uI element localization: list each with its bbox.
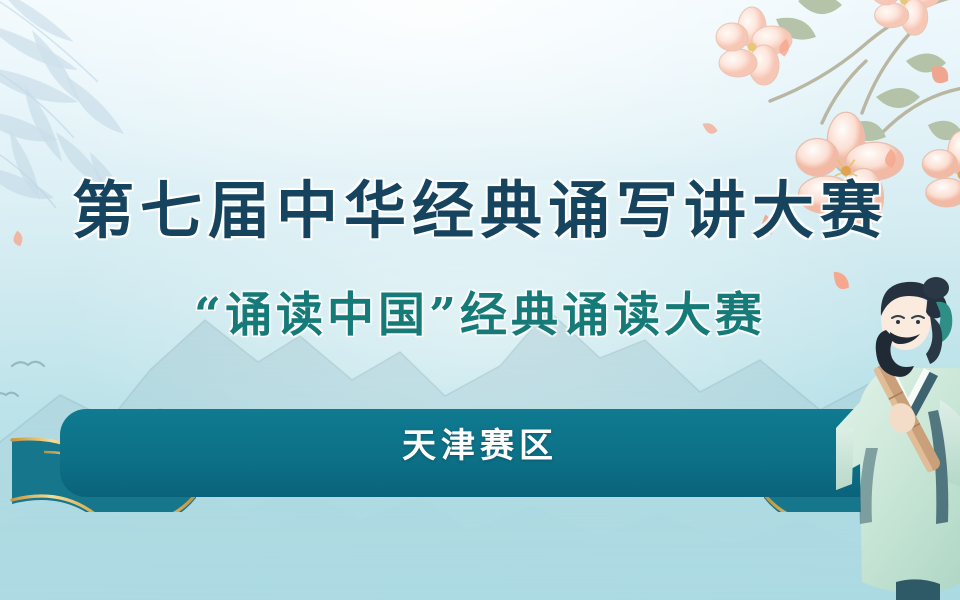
poster-canvas: 第七届中华经典诵写讲大赛 “诵读中国”经典诵读大赛 [0, 0, 960, 600]
page-subtitle: “诵读中国”经典诵读大赛 [0, 288, 960, 344]
page-title: 第七届中华经典诵写讲大赛 [0, 176, 960, 246]
ancient-scholar-figure-icon [836, 272, 960, 600]
region-label: 天津赛区 [0, 425, 960, 467]
